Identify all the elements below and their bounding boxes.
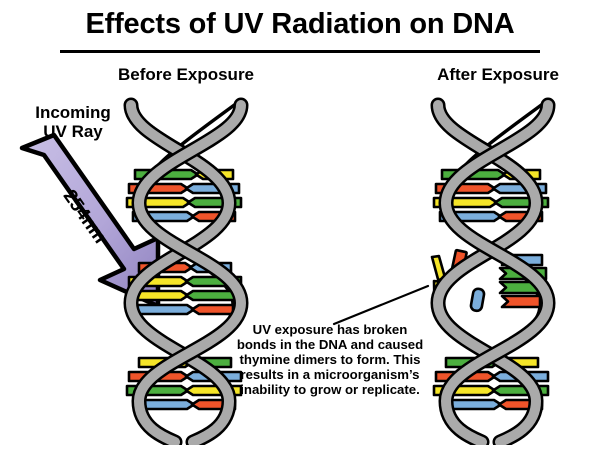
- column-header-before: Before Exposure: [86, 65, 286, 85]
- column-header-after: After Exposure: [398, 65, 598, 85]
- rung: [127, 291, 241, 300]
- damage-caption: UV exposure has broken bonds in the DNA …: [232, 322, 428, 397]
- diagram-canvas: Effects of UV Radiation on DNA Before Ex…: [0, 0, 600, 450]
- rung: [135, 400, 235, 409]
- uv-ray-label-line1: Incoming: [35, 103, 111, 122]
- title-underline: [60, 50, 540, 53]
- after-exposure-dna: [412, 95, 572, 445]
- page-title: Effects of UV Radiation on DNA: [0, 8, 600, 41]
- rung: [137, 305, 233, 314]
- rung: [442, 400, 542, 409]
